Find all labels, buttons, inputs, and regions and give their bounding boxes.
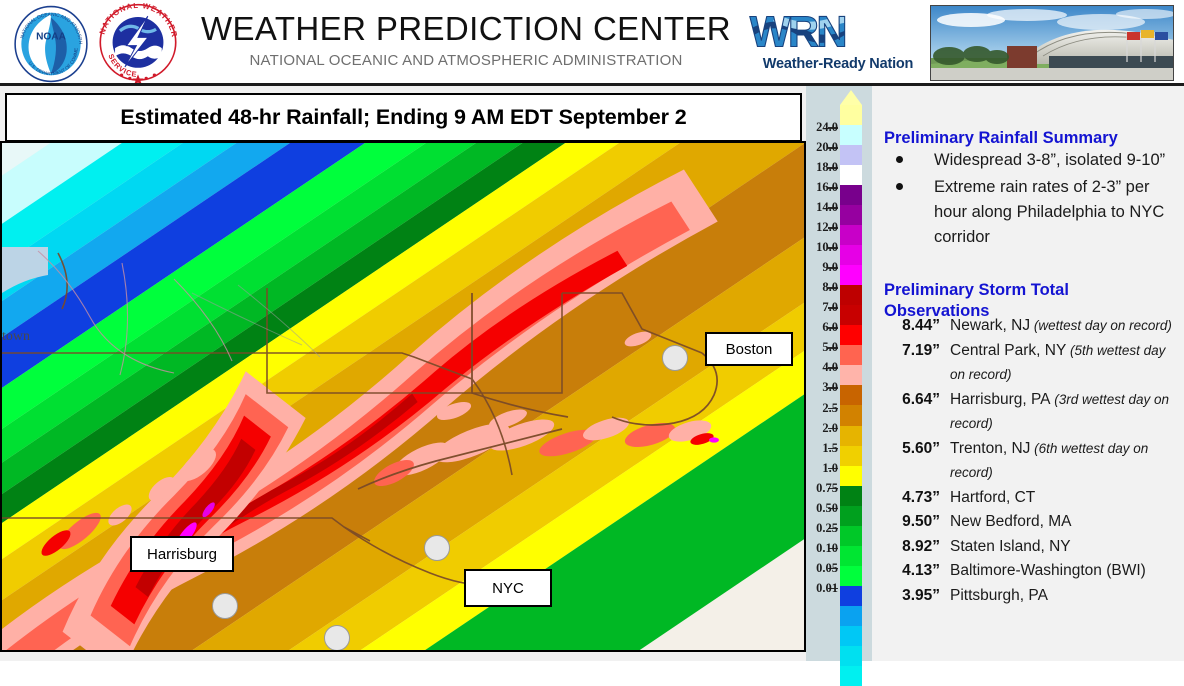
observation-note: (wettest day on record) xyxy=(1030,318,1172,333)
page-subtitle: NATIONAL OCEANIC AND ATMOSPHERIC ADMINIS… xyxy=(196,50,736,72)
observation-row: 4.73”Hartford, CT xyxy=(882,486,1182,511)
basemap-partial-city-label: town xyxy=(2,329,30,345)
colorbar-color-strip xyxy=(840,105,862,686)
page-header: NOAA NATIONAL OCEANIC AND ATMOSPHERIC AD… xyxy=(0,0,1184,86)
observation-row: 4.13”Baltimore-Washington (BWI) xyxy=(882,559,1182,584)
ncwcp-building-photo xyxy=(930,5,1174,81)
info-panel: Preliminary Rainfall Summary Widespread … xyxy=(872,86,1184,661)
colorbar-tick-label: 1.0 xyxy=(806,461,838,476)
colorbar-segment xyxy=(840,526,862,546)
observation-amount: 8.44” xyxy=(882,314,940,339)
colorbar-top-arrow-icon xyxy=(840,90,862,105)
bullet-dot-icon xyxy=(896,156,903,163)
rainfall-summary-bullets: Widespread 3-8”, isolated 9-10”Extreme r… xyxy=(880,148,1180,252)
colorbar-segment xyxy=(840,205,862,225)
graphic-title-text: Estimated 48-hr Rainfall; Ending 9 AM ED… xyxy=(120,105,686,130)
observation-amount: 8.92” xyxy=(882,535,940,560)
city-marker-dot xyxy=(424,535,450,561)
colorbar-tick-label: 5.0 xyxy=(806,340,838,355)
bullet-dot-icon xyxy=(896,183,903,190)
colorbar-tick-label: 0.10 xyxy=(806,541,838,556)
observation-amount: 9.50” xyxy=(882,510,940,535)
observation-site: Hartford, CT xyxy=(950,489,1035,506)
colorbar-tick-label: 1.5 xyxy=(806,441,838,456)
graphic-title-bar: Estimated 48-hr Rainfall; Ending 9 AM ED… xyxy=(5,93,802,142)
city-label-nyc[interactable]: NYC xyxy=(464,569,552,607)
observation-amount: 6.64” xyxy=(882,388,940,413)
wrn-wordmark-icon: WRN WRN xyxy=(748,8,928,56)
colorbar-segment xyxy=(840,405,862,425)
colorbar-tick-label: 6.0 xyxy=(806,320,838,335)
colorbar-tick-label: 18.0 xyxy=(806,160,838,175)
colorbar-segment xyxy=(840,466,862,486)
observation-row: 6.64”Harrisburg, PA (3rd wettest day on … xyxy=(882,388,1182,437)
observation-amount: 7.19” xyxy=(882,339,940,364)
svg-text:WRN: WRN xyxy=(750,8,846,56)
observation-row: 9.50”New Bedford, MA xyxy=(882,510,1182,535)
colorbar-segment xyxy=(840,546,862,566)
colorbar-tick-label: 0.01 xyxy=(806,581,838,596)
observation-row: 7.19”Central Park, NY (5th wettest day o… xyxy=(882,339,1182,388)
observation-row: 8.44”Newark, NJ (wettest day on record) xyxy=(882,314,1182,339)
colorbar-segment xyxy=(840,105,862,125)
rainfall-summary-heading: Preliminary Rainfall Summary xyxy=(884,128,1174,149)
observation-site: Staten Island, NY xyxy=(950,538,1071,555)
national-weather-service-logo-icon: NATIONAL WEATHER SERVICE xyxy=(96,3,180,85)
colorbar-tick-label: 9.0 xyxy=(806,260,838,275)
weather-graphic-root: NOAA NATIONAL OCEANIC AND ATMOSPHERIC AD… xyxy=(0,0,1184,661)
observation-site: New Bedford, MA xyxy=(950,513,1071,530)
colorbar-segment xyxy=(840,586,862,606)
colorbar-tick-label: 0.05 xyxy=(806,561,838,576)
rainfall-contour-field xyxy=(2,143,804,650)
weather-ready-nation-logo: WRN WRN Weather-Ready Nation xyxy=(748,6,928,80)
colorbar-tick-label: 3.0 xyxy=(806,380,838,395)
colorbar-segment xyxy=(840,626,862,646)
observation-amount: 3.95” xyxy=(882,584,940,609)
page-title: WEATHER PREDICTION CENTER xyxy=(196,8,736,50)
colorbar-segment xyxy=(840,566,862,586)
colorbar-segment xyxy=(840,606,862,626)
observation-amount: 4.13” xyxy=(882,559,940,584)
colorbar-tick-label: 4.0 xyxy=(806,360,838,375)
observation-site: Baltimore-Washington (BWI) xyxy=(950,562,1146,579)
colorbar-tick-label: 0.25 xyxy=(806,521,838,536)
observation-amount: 5.60” xyxy=(882,437,940,462)
colorbar-tick-label: 24.0 xyxy=(806,120,838,135)
colorbar-tick-label: 2.5 xyxy=(806,401,838,416)
svg-text:NOAA: NOAA xyxy=(36,31,66,42)
colorbar-tick-label: 10.0 xyxy=(806,240,838,255)
rainfall-colorbar: 24.020.018.016.014.012.010.09.08.07.06.0… xyxy=(806,86,872,661)
colorbar-segment xyxy=(840,285,862,305)
colorbar-tick-label: 14.0 xyxy=(806,200,838,215)
observation-site: Trenton, NJ xyxy=(950,440,1030,457)
colorbar-segment xyxy=(840,245,862,265)
header-title-group: WEATHER PREDICTION CENTER NATIONAL OCEAN… xyxy=(196,8,736,72)
colorbar-segment xyxy=(840,185,862,205)
colorbar-segment xyxy=(840,345,862,365)
colorbar-segment xyxy=(840,446,862,466)
colorbar-segment xyxy=(840,426,862,446)
summary-bullet-text: Extreme rain rates of 2-3” per hour alon… xyxy=(934,178,1164,246)
city-marker-dot xyxy=(324,625,350,651)
city-marker-dot xyxy=(212,593,238,619)
colorbar-tick-label: 16.0 xyxy=(806,180,838,195)
summary-bullet-text: Widespread 3-8”, isolated 9-10” xyxy=(934,151,1165,169)
colorbar-segment xyxy=(840,486,862,506)
observation-row: 8.92”Staten Island, NY xyxy=(882,535,1182,560)
observation-row: 3.95”Pittsburgh, PA xyxy=(882,584,1182,609)
colorbar-segment xyxy=(840,305,862,325)
city-marker-dot xyxy=(662,345,688,371)
summary-bullet: Extreme rain rates of 2-3” per hour alon… xyxy=(880,175,1180,250)
storm-total-observations-list: 8.44”Newark, NJ (wettest day on record)7… xyxy=(882,314,1182,608)
colorbar-segment xyxy=(840,365,862,385)
observation-site: Central Park, NY xyxy=(950,342,1066,359)
colorbar-tick-label: 8.0 xyxy=(806,280,838,295)
observation-site: Newark, NJ xyxy=(950,317,1030,334)
wrn-tagline: Weather-Ready Nation xyxy=(748,56,928,72)
colorbar-segment xyxy=(840,646,862,666)
colorbar-segment xyxy=(840,265,862,285)
colorbar-segment xyxy=(840,225,862,245)
noaa-logo-icon: NOAA NATIONAL OCEANIC AND ATMOSPHERIC AD… xyxy=(12,5,90,83)
rainfall-map[interactable]: town BostonHarrisburgNYCPhiladelphiaBalt… xyxy=(0,141,806,652)
colorbar-segment xyxy=(840,666,862,686)
colorbar-tick-label: 20.0 xyxy=(806,140,838,155)
colorbar-tick-label: 0.75 xyxy=(806,481,838,496)
city-label-boston[interactable]: Boston xyxy=(705,332,793,366)
colorbar-segment xyxy=(840,325,862,345)
colorbar-segment xyxy=(840,385,862,405)
colorbar-segment xyxy=(840,125,862,145)
colorbar-tick-label: 0.50 xyxy=(806,501,838,516)
observation-row: 5.60”Trenton, NJ (6th wettest day on rec… xyxy=(882,437,1182,486)
colorbar-tick-label: 7.0 xyxy=(806,300,838,315)
observation-amount: 4.73” xyxy=(882,486,940,511)
colorbar-segment xyxy=(840,165,862,185)
observation-site: Harrisburg, PA xyxy=(950,391,1051,408)
colorbar-segment xyxy=(840,145,862,165)
colorbar-tick-label: 2.0 xyxy=(806,421,838,436)
city-label-harrisburg[interactable]: Harrisburg xyxy=(130,536,234,572)
colorbar-segment xyxy=(840,506,862,526)
colorbar-tick-label: 12.0 xyxy=(806,220,838,235)
summary-bullet: Widespread 3-8”, isolated 9-10” xyxy=(880,148,1180,173)
observation-site: Pittsburgh, PA xyxy=(950,587,1048,604)
